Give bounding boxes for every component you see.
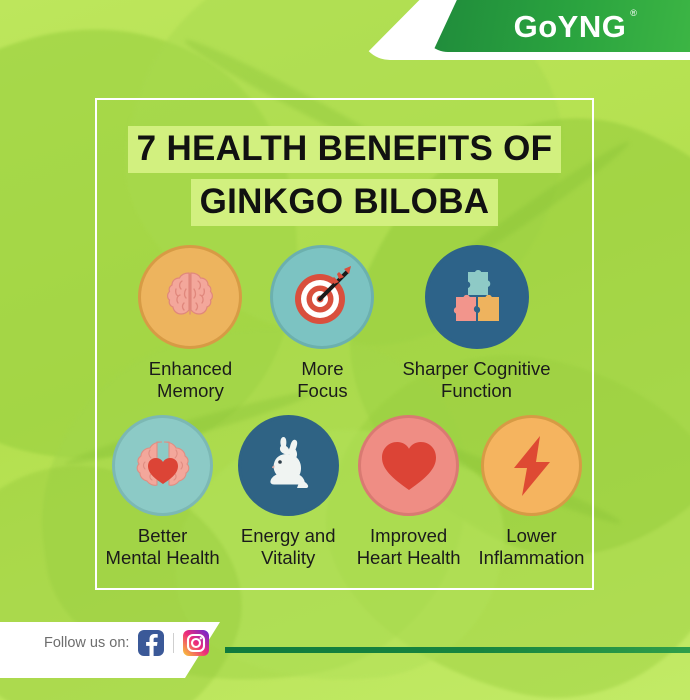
facebook-glyph [138,630,164,656]
benefit-label: Better Mental Health [106,525,220,569]
footer-accent-line [225,647,690,653]
benefit-label: Improved Heart Health [357,525,461,569]
benefit-item-energy-and-vitality[interactable]: Energy and Vitality [238,415,339,569]
benefit-label: Lower Inflammation [479,525,585,569]
facebook-icon[interactable] [138,630,164,656]
target-arrow-icon [287,262,357,332]
benefit-item-better-mental-health[interactable]: Better Mental Health [106,415,220,569]
social-divider [173,633,174,653]
rabbit-icon [256,434,320,498]
benefits-row-1: Enhanced Memory More Focus [95,245,594,402]
benefit-item-more-focus[interactable]: More Focus [270,245,374,402]
heart-icon [378,437,440,495]
logo-banner[interactable]: GoYNG® [422,0,690,52]
instagram-icon[interactable] [183,630,209,656]
instagram-glyph [183,630,209,656]
benefit-icon-circle [481,415,582,516]
benefit-label: Energy and Vitality [241,525,336,569]
infographic-canvas: GoYNG® 7 HEALTH BENEFITS OF GINKGO BILOB… [0,0,690,700]
benefit-icon-circle [238,415,339,516]
brand-header: GoYNG® [0,0,690,72]
title-line-2: GINKGO BILOBA [191,179,499,226]
footer: Follow us on: [0,618,690,700]
puzzle-icon [444,264,510,330]
benefit-item-sharper-cognitive-function[interactable]: Sharper Cognitive Function [402,245,550,402]
benefit-icon-circle [425,245,529,349]
brain-icon [158,265,222,329]
benefit-label: Sharper Cognitive Function [402,358,550,402]
page-title: 7 HEALTH BENEFITS OF GINKGO BILOBA [95,126,594,226]
benefit-label: More Focus [297,358,347,402]
brain-heart-icon [129,434,197,498]
benefit-item-improved-heart-health[interactable]: Improved Heart Health [357,415,461,569]
benefit-item-enhanced-memory[interactable]: Enhanced Memory [138,245,242,402]
follow-us-label: Follow us on: [44,635,129,651]
benefits-row-2: Better Mental Health Energy and Vitality [75,415,615,569]
follow-us-group: Follow us on: [44,630,209,656]
title-line-1: 7 HEALTH BENEFITS OF [128,126,562,173]
benefit-icon-circle [138,245,242,349]
benefit-item-lower-inflammation[interactable]: Lower Inflammation [479,415,585,569]
benefit-icon-circle [112,415,213,516]
benefit-label: Enhanced Memory [149,358,232,402]
logo-text-label: GoYNG [514,9,627,44]
registered-trademark-icon: ® [630,9,637,18]
benefit-icon-circle [358,415,459,516]
lightning-bolt-icon [506,434,558,498]
benefit-icon-circle [270,245,374,349]
logo-wordmark: GoYNG® [514,11,627,42]
